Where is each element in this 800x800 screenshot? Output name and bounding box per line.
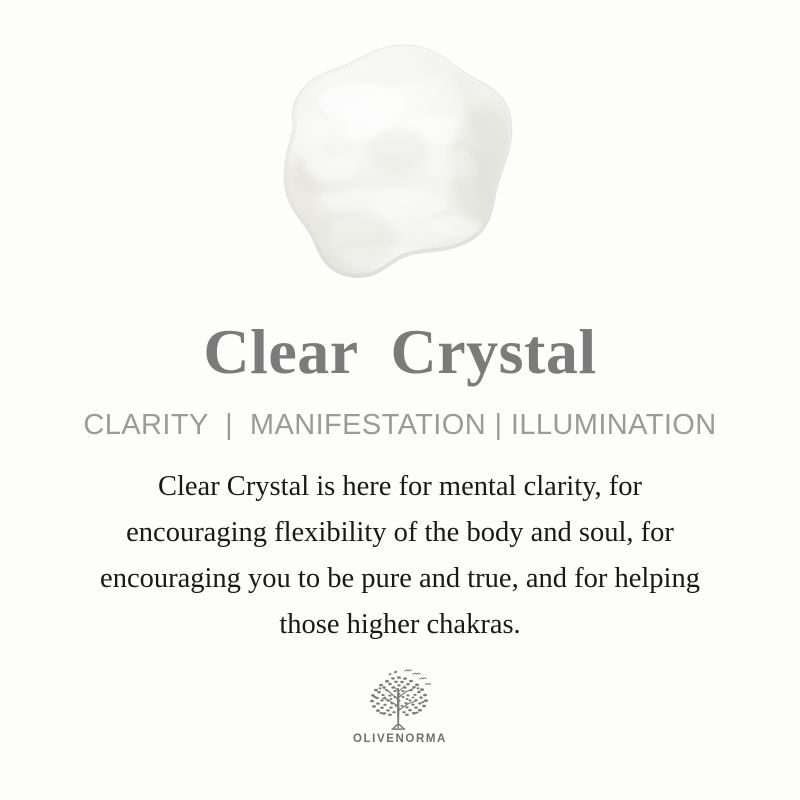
- product-image-area: [0, 0, 800, 320]
- product-info-card: Clear Crystal CLARITY | MANIFESTATION | …: [0, 0, 800, 800]
- brand-logo: OLIVENORMA: [353, 666, 447, 745]
- description-line: Clear Crystal is here for mental clarity…: [40, 464, 760, 510]
- description-line: those higher chakras.: [40, 602, 760, 648]
- description-line: encouraging you to be pure and true, and…: [40, 556, 760, 602]
- description-line: encouraging flexibility of the body and …: [40, 510, 760, 556]
- olive-tree-with-birds-logo-icon: [361, 666, 439, 732]
- keyword-tagline: CLARITY | MANIFESTATION | ILLUMINATION: [83, 410, 716, 442]
- page-title: Clear Crystal: [203, 320, 596, 384]
- crystal-image: [236, 26, 528, 294]
- brand-name: OLIVENORMA: [353, 733, 447, 745]
- raw-clear-quartz-crystal-icon: [236, 26, 528, 294]
- product-description: Clear Crystal is here for mental clarity…: [40, 464, 760, 648]
